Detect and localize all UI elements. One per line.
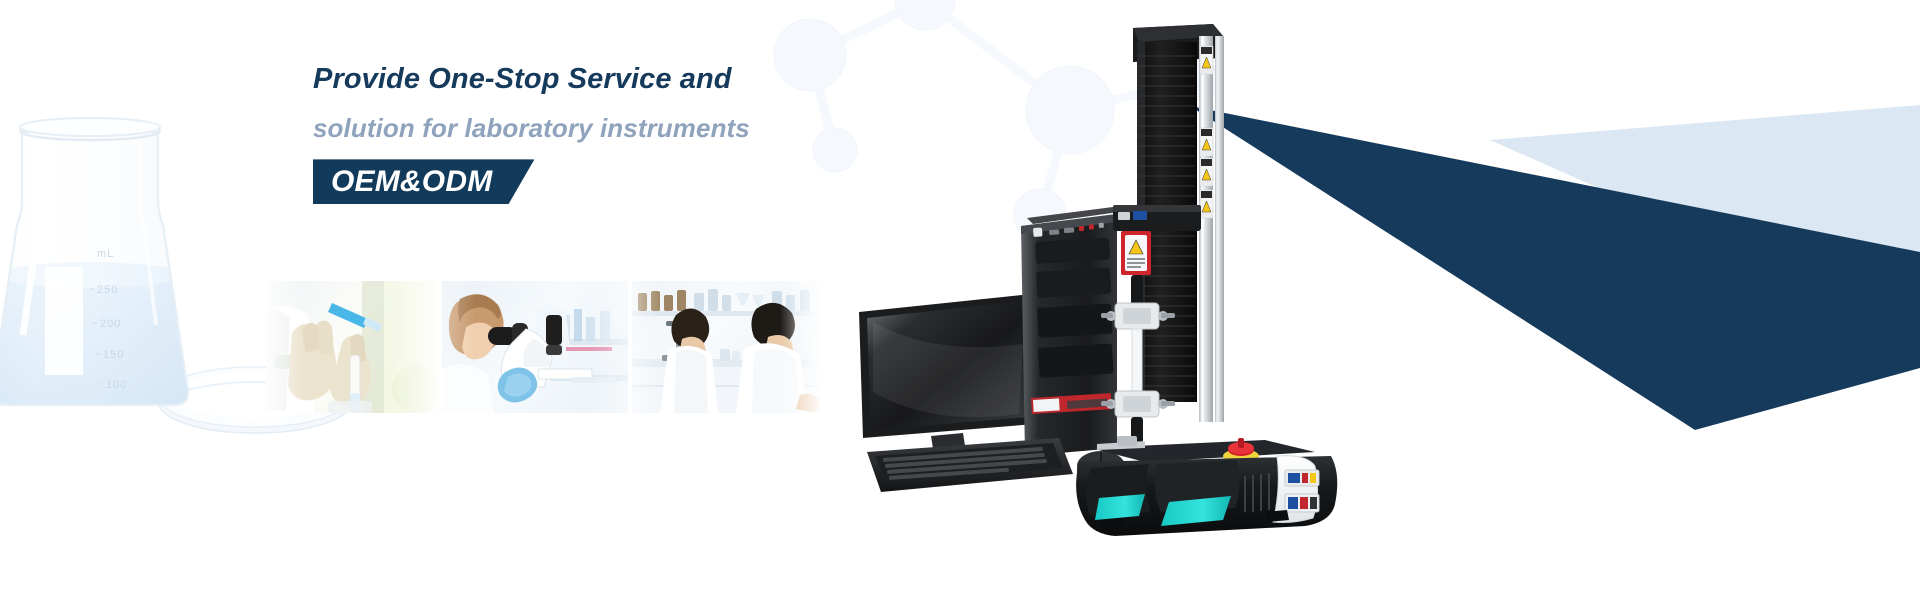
warning-label-group: [1200, 46, 1213, 218]
equipment-illustration: [845, 0, 1920, 597]
microscope-photo: [442, 281, 628, 413]
pipetting-photo: [266, 281, 438, 413]
test-specimen: [1132, 329, 1142, 391]
keyboard: [867, 438, 1073, 492]
flask-grad-250: 250: [97, 284, 118, 296]
warning-label: [1200, 128, 1213, 156]
pc-tower: [1021, 207, 1119, 456]
erlenmeyer-flask: mL 250 200 150 100: [0, 118, 210, 423]
lab-photo-strip: [266, 281, 822, 413]
warning-label: [1200, 46, 1213, 74]
hero-banner: mL 250 200 150 100 Provide One-Stop Serv…: [0, 0, 1920, 597]
flask-grad-150: 150: [103, 349, 124, 361]
tester-rail-right: [1215, 36, 1224, 422]
lab-bench-photo: [632, 281, 822, 413]
oem-odm-badge: OEM&ODM: [313, 159, 534, 204]
flask-grad-200: 200: [100, 318, 121, 330]
led-accent: [1095, 494, 1145, 520]
warning-label: [1200, 190, 1213, 218]
warning-label: [1200, 158, 1213, 186]
flask-grad-100: 100: [106, 379, 127, 391]
flask-unit-label: mL: [97, 248, 114, 260]
